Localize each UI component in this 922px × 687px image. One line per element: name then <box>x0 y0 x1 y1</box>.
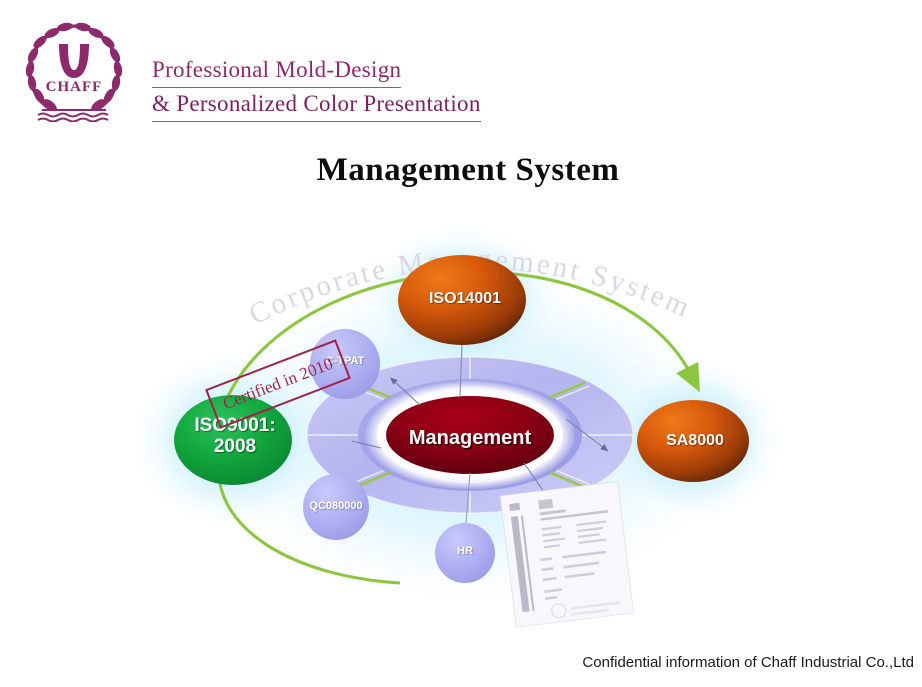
tagline-line-1: Professional Mold-Design <box>152 54 401 88</box>
page-title: Management System <box>0 152 922 189</box>
slide-canvas: CHAFF Professional Mold-Design & Persona… <box>0 0 922 687</box>
management-system-diagram: Corporate Management System <box>0 205 922 635</box>
certificate-document <box>500 482 633 627</box>
header-tagline: Professional Mold-Design & Personalized … <box>152 54 572 122</box>
chaff-logo: CHAFF <box>18 12 130 122</box>
management-core-ellipse[interactable] <box>386 396 554 474</box>
logo-wordmark: CHAFF <box>46 79 103 95</box>
tagline-line-2: & Personalized Color Presentation <box>152 88 481 122</box>
node-qc080000[interactable] <box>303 474 369 540</box>
node-sa8000[interactable] <box>637 400 749 482</box>
confidentiality-footer: Confidential information of Chaff Indust… <box>0 654 922 671</box>
node-hr[interactable] <box>435 523 495 583</box>
node-iso14001[interactable] <box>398 255 526 345</box>
